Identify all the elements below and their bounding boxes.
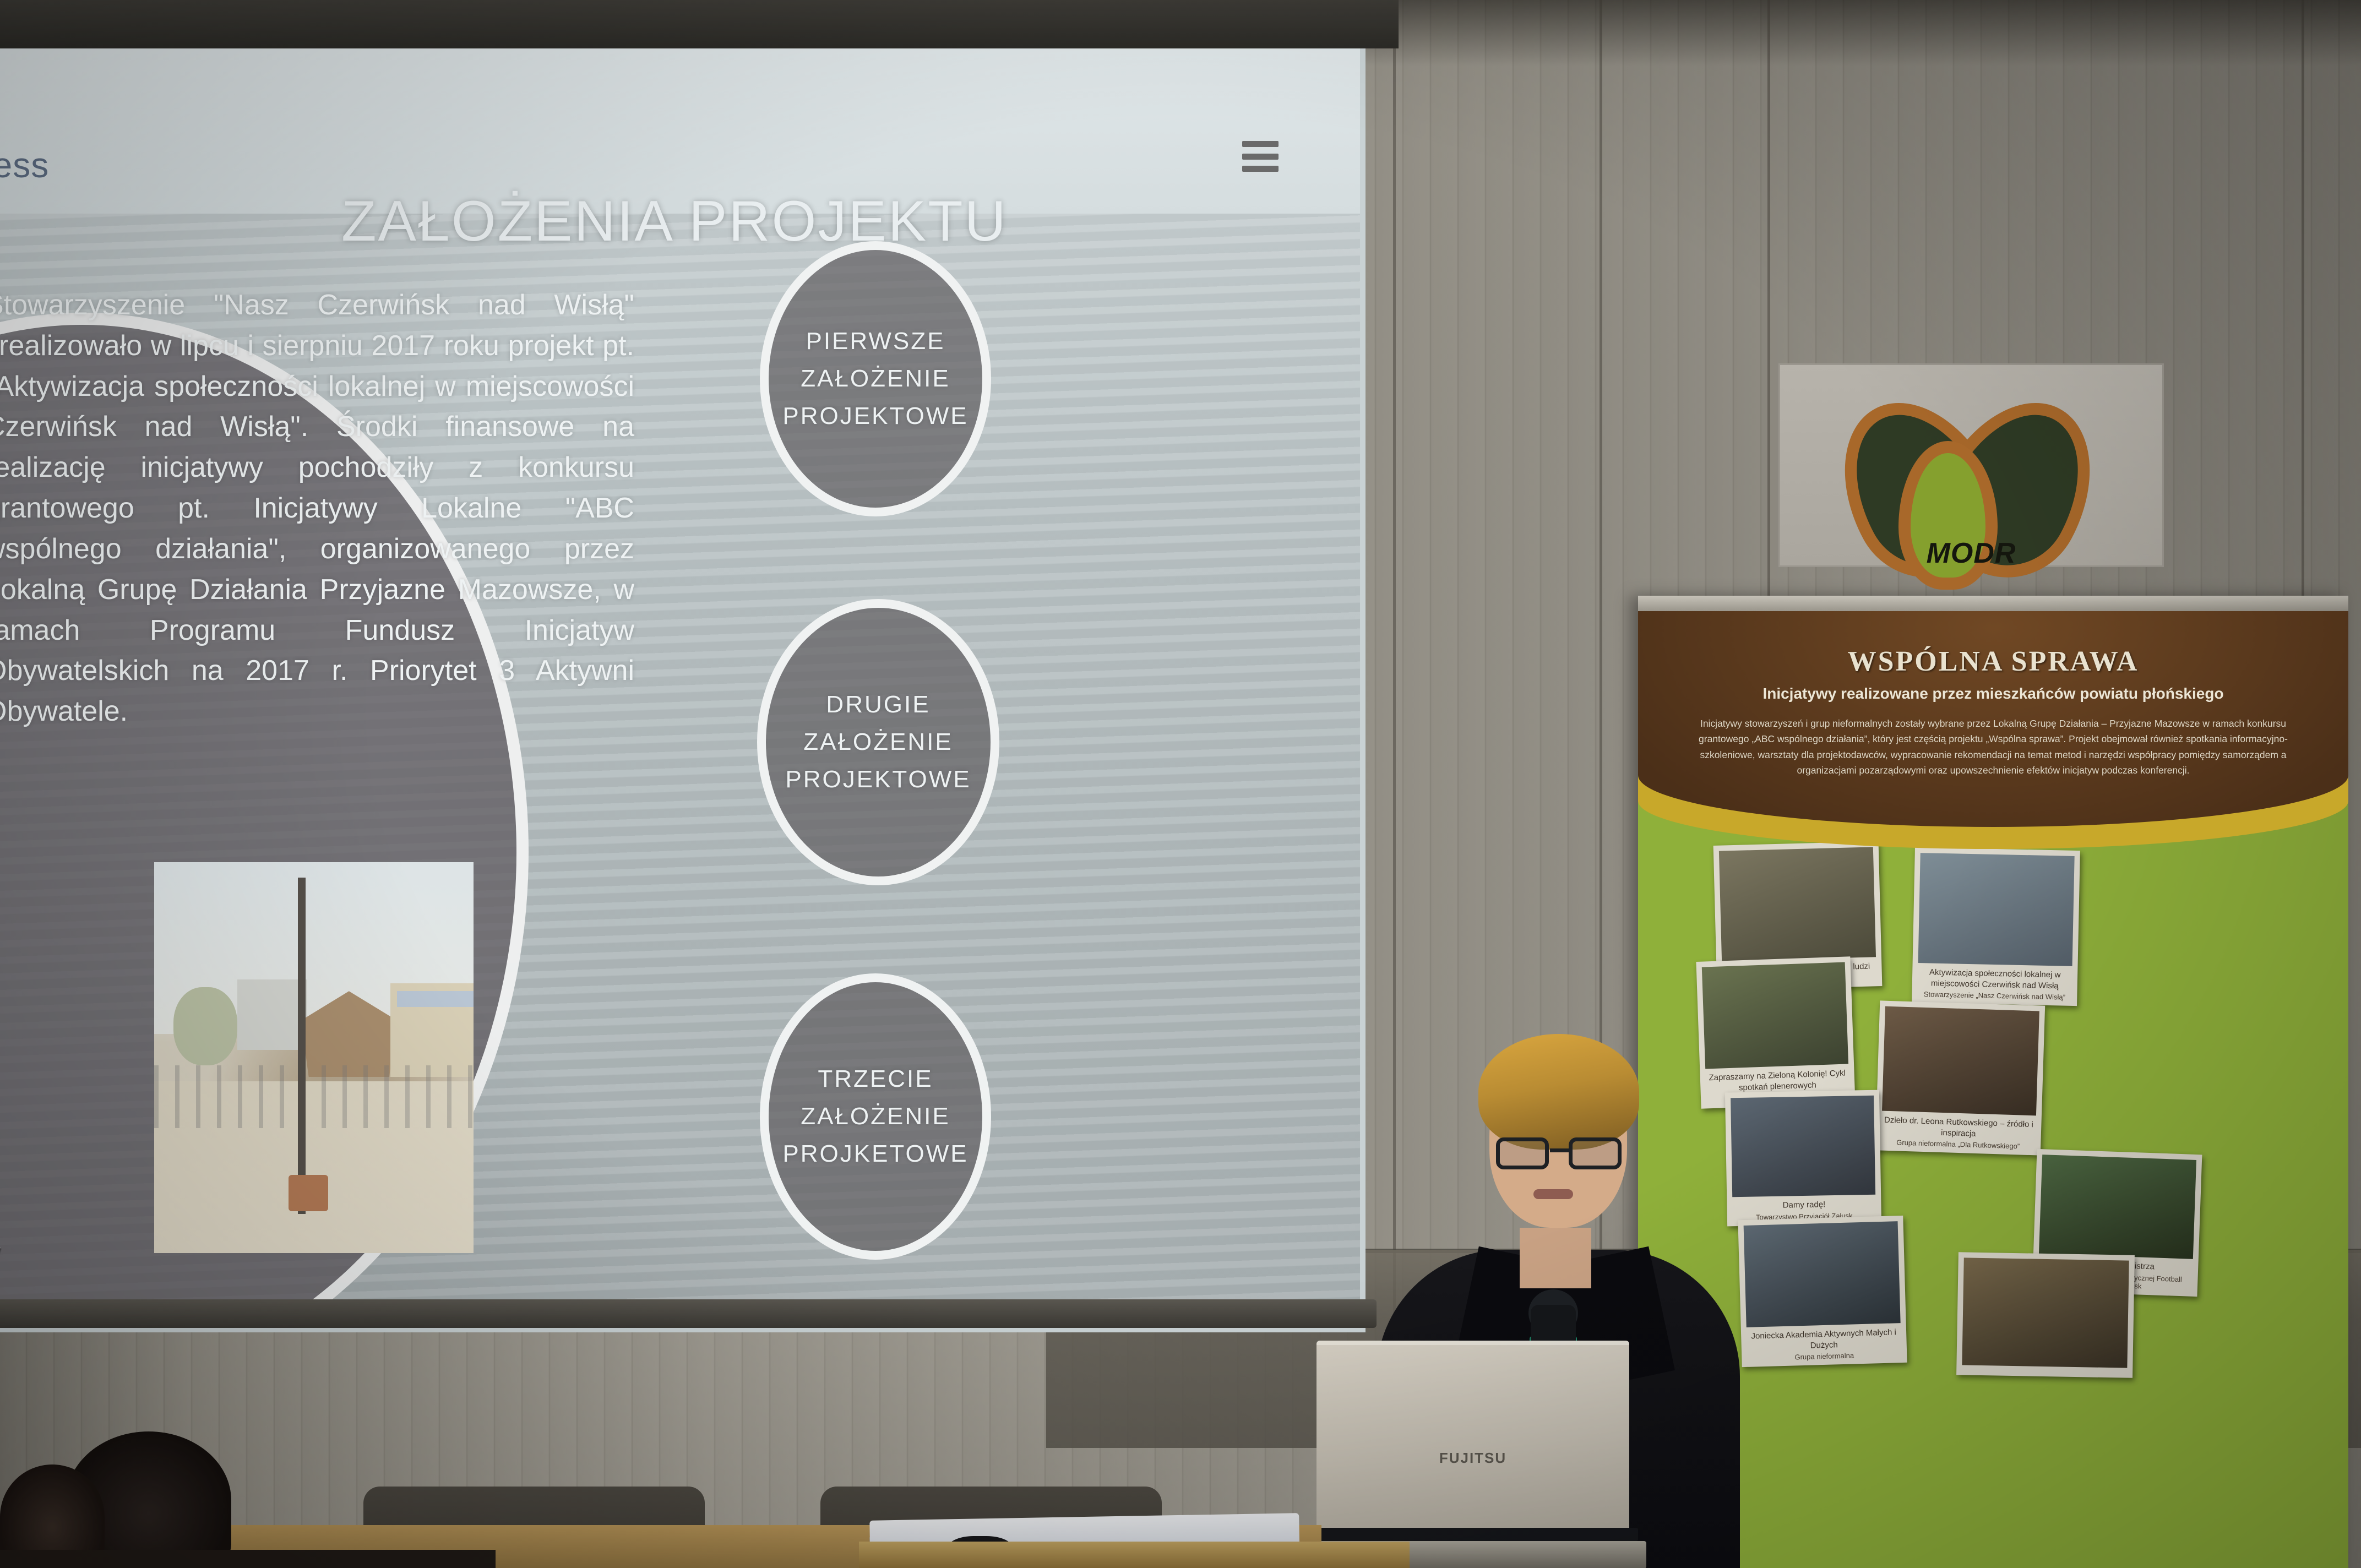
banner-card-caption: Dzieło dr. Leona Rutkowskiego – źródło i… xyxy=(1881,1111,2036,1143)
modr-wall-sign: MODR xyxy=(1778,363,2164,567)
desk-front-edge xyxy=(859,1542,1410,1568)
hamburger-menu-icon[interactable] xyxy=(1242,141,1279,172)
banner-photo-card: Aktywizacja społeczności lokalnej w miej… xyxy=(1912,847,2080,1006)
banner-card-caption: Aktywizacja społeczności lokalnej w miej… xyxy=(1918,963,2072,993)
projection-screen: ness ZAŁOŻENIA PROJEKTU Stowarzyszenie "… xyxy=(0,0,1366,1332)
slide-circle-third: TRZECIE ZAŁOŻENIE PROJKETOWE xyxy=(760,973,991,1260)
screen-top-rail xyxy=(0,0,1399,48)
presenter-neck xyxy=(1520,1228,1591,1288)
modr-logo-icon: MODR xyxy=(1852,393,2088,574)
presenter-hair xyxy=(1478,1034,1639,1150)
banner-card-image xyxy=(2039,1155,2196,1259)
presenter-mouth xyxy=(1533,1189,1573,1199)
projected-slide: ness ZAŁOŻENIA PROJEKTU Stowarzyszenie "… xyxy=(0,48,1360,1304)
slide-circle-third-label: TRZECIE ZAŁOŻENIE PROJKETOWE xyxy=(782,1060,968,1173)
banner-photo-card: Dzieło dr. Leona Rutkowskiego – źródło i… xyxy=(1875,1000,2045,1155)
banner-card-caption: Damy radę! xyxy=(1732,1195,1875,1213)
banner-body-text: Inicjatywy stowarzyszeń i grup nieformal… xyxy=(1677,716,2310,778)
modr-logo-label: MODR xyxy=(1902,537,2040,570)
banner-card-image xyxy=(1882,1006,2039,1116)
laptop-lid: FUJITSU xyxy=(1316,1341,1629,1528)
banner-photo-card: Joniecka Akademia Aktywnych Małych i Duż… xyxy=(1738,1216,1907,1367)
banner-card-image xyxy=(1719,847,1876,961)
slide-circle-first: PIERWSZE ZAŁOŻENIE PROJEKTOWE xyxy=(760,241,991,516)
slide-brand-text: ness xyxy=(0,145,49,186)
banner-subtitle: Inicjatywy realizowane przez mieszkańców… xyxy=(1638,685,2348,703)
foreground-shadow xyxy=(0,1550,496,1568)
banner-photo-card xyxy=(1956,1252,2135,1378)
banner-title: WSPÓLNA SPRAWA xyxy=(1638,645,2348,678)
banner-card-image xyxy=(1744,1221,1901,1327)
slide-inline-photo xyxy=(154,862,474,1253)
banner-card-image xyxy=(1731,1096,1875,1197)
slide-circle-second: DRUGIE ZAŁOŻENIE PROJEKTOWE xyxy=(757,599,999,885)
slide-circle-first-label: PIERWSZE ZAŁOŻENIE PROJEKTOWE xyxy=(782,323,968,435)
slide-circle-second-label: DRUGIE ZAŁOŻENIE PROJEKTOWE xyxy=(785,686,971,799)
slide-paragraph: Stowarzyszenie "Nasz Czerwińsk nad Wisłą… xyxy=(0,285,634,732)
laptop[interactable]: FUJITSU xyxy=(1308,1341,1638,1568)
screen-bottom-rail xyxy=(0,1299,1377,1328)
banner-card-caption: Joniecka Akademia Aktywnych Małych i Duż… xyxy=(1747,1323,1901,1354)
laptop-hinge xyxy=(1308,1528,1638,1541)
banner-card-image xyxy=(1918,853,2075,966)
banner-card-image xyxy=(1962,1257,2129,1368)
eyeglasses-icon xyxy=(1494,1137,1624,1170)
laptop-brand-label: FUJITSU xyxy=(1316,1450,1629,1467)
banner-top-rail xyxy=(1638,596,2348,611)
slide-title: ZAŁOŻENIA PROJEKTU xyxy=(341,189,1008,254)
conference-room-photo: ness ZAŁOŻENIA PROJEKTU Stowarzyszenie "… xyxy=(0,0,2361,1568)
